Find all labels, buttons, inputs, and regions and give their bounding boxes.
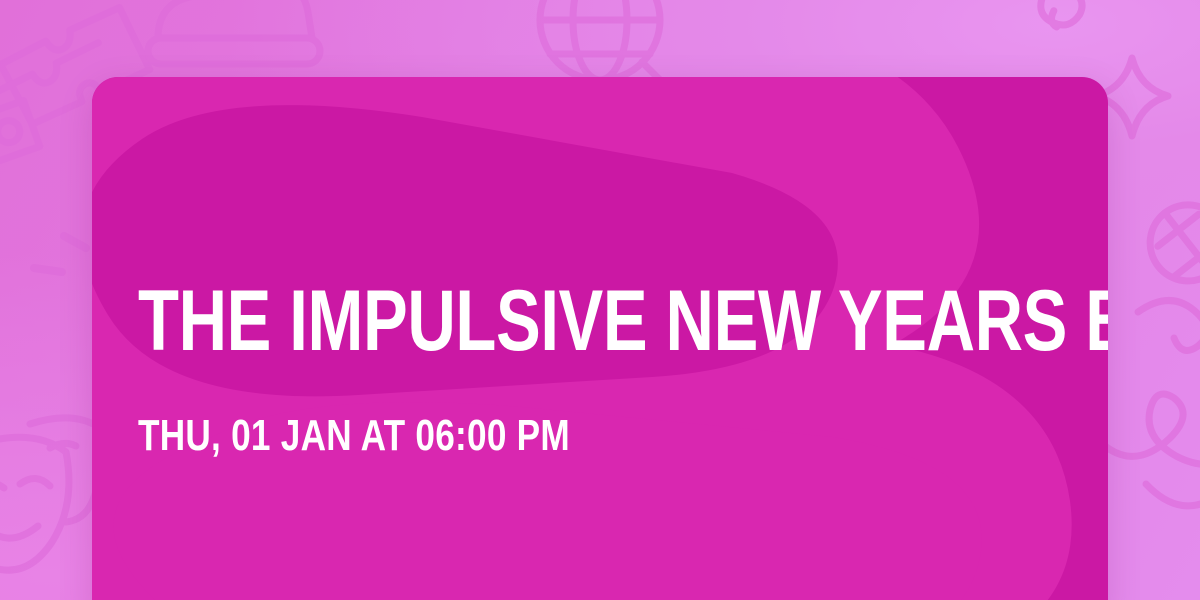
event-datetime: Thu, 01 Jan at 06:00 PM — [138, 413, 570, 459]
guitar-icon — [1004, 0, 1196, 32]
event-title: The Impulsive New Years Bash — [138, 277, 1108, 365]
event-banner: The Impulsive New Years Bash Thu, 01 Jan… — [0, 0, 1200, 600]
microphone-icon — [1135, 190, 1200, 336]
theater-masks-icon — [0, 418, 102, 570]
event-card-content: The Impulsive New Years Bash Thu, 01 Jan… — [138, 77, 1068, 600]
event-card[interactable]: The Impulsive New Years Bash Thu, 01 Jan… — [92, 77, 1108, 600]
cake-icon — [148, 0, 320, 64]
